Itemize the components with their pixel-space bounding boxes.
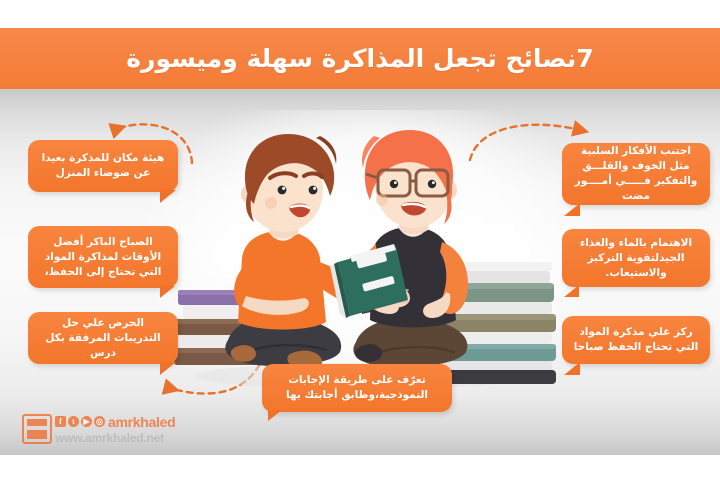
youtube-icon[interactable]: ▶	[81, 416, 92, 427]
footer-branding[interactable]: f t ▶ ◎ amrkhaled www.amrkhaled.net	[22, 409, 175, 449]
tip-1-text: هيئة مكان للمذكرة بعيدا عن ضوضاء المنزل	[37, 151, 169, 181]
tip-callout-1[interactable]: هيئة مكان للمذكرة بعيدا عن ضوضاء المنزل	[28, 140, 178, 192]
tip-1-tail	[160, 190, 176, 203]
instagram-icon[interactable]: ◎	[94, 416, 105, 427]
infographic-canvas: 7نصائح تجعل المذاكرة سهلة وميسورة	[0, 0, 720, 479]
brand-name: amrkhaled	[108, 414, 175, 430]
social-icons[interactable]: f t ▶ ◎	[55, 416, 105, 427]
tip-callout-6[interactable]: ركز علي مذكرة المواد التي تحتاج الحفظ صب…	[562, 316, 710, 364]
tip-3-tail	[160, 362, 176, 375]
tip-callout-5[interactable]: الاهتمام بالماء والغذاء الجيدلتقوية التر…	[562, 229, 710, 287]
students-illustration	[150, 108, 580, 398]
tip-2-text: الصباح الباكر أفضل الأوقات لمذاكرة الموا…	[37, 235, 169, 280]
tip-2-tail	[160, 286, 175, 298]
tip-4-text: اجتنب الأفكار السلبية مثل الخوف والقلـــ…	[571, 144, 701, 204]
tip-callout-3[interactable]: الحرص علي حل التدريبات المرفقة بكل درس	[28, 312, 178, 364]
character-boy-red-hair	[330, 130, 468, 368]
tip-callout-2[interactable]: الصباح الباكر أفضل الأوقات لمذاكرة الموا…	[28, 226, 178, 288]
tip-5-tail	[564, 285, 579, 297]
tip-callout-4[interactable]: اجتنب الأفكار السلبية مثل الخوف والقلـــ…	[562, 143, 710, 205]
facebook-icon[interactable]: f	[55, 416, 66, 427]
tip-5-text: الاهتمام بالماء والغذاء الجيدلتقوية التر…	[571, 236, 701, 281]
tip-7-text: تعرّف على طريقة الإجابات النموذجية،وطابق…	[271, 373, 443, 403]
tip-6-text: ركز علي مذكرة المواد التي تحتاج الحفظ صب…	[571, 325, 701, 355]
brand-url[interactable]: www.amrkhaled.net	[55, 431, 175, 445]
tip-4-tail	[564, 203, 580, 216]
tip-callout-7[interactable]: تعرّف على طريقة الإجابات النموذجية،وطابق…	[262, 364, 452, 412]
tip-3-text: الحرص علي حل التدريبات المرفقة بكل درس	[37, 316, 169, 361]
tip-7-tail	[268, 410, 282, 421]
tip-6-tail	[564, 362, 580, 375]
twitter-icon[interactable]: t	[68, 416, 79, 427]
bottom-margin	[0, 455, 720, 479]
amrkhaled-logo-icon	[22, 414, 52, 444]
